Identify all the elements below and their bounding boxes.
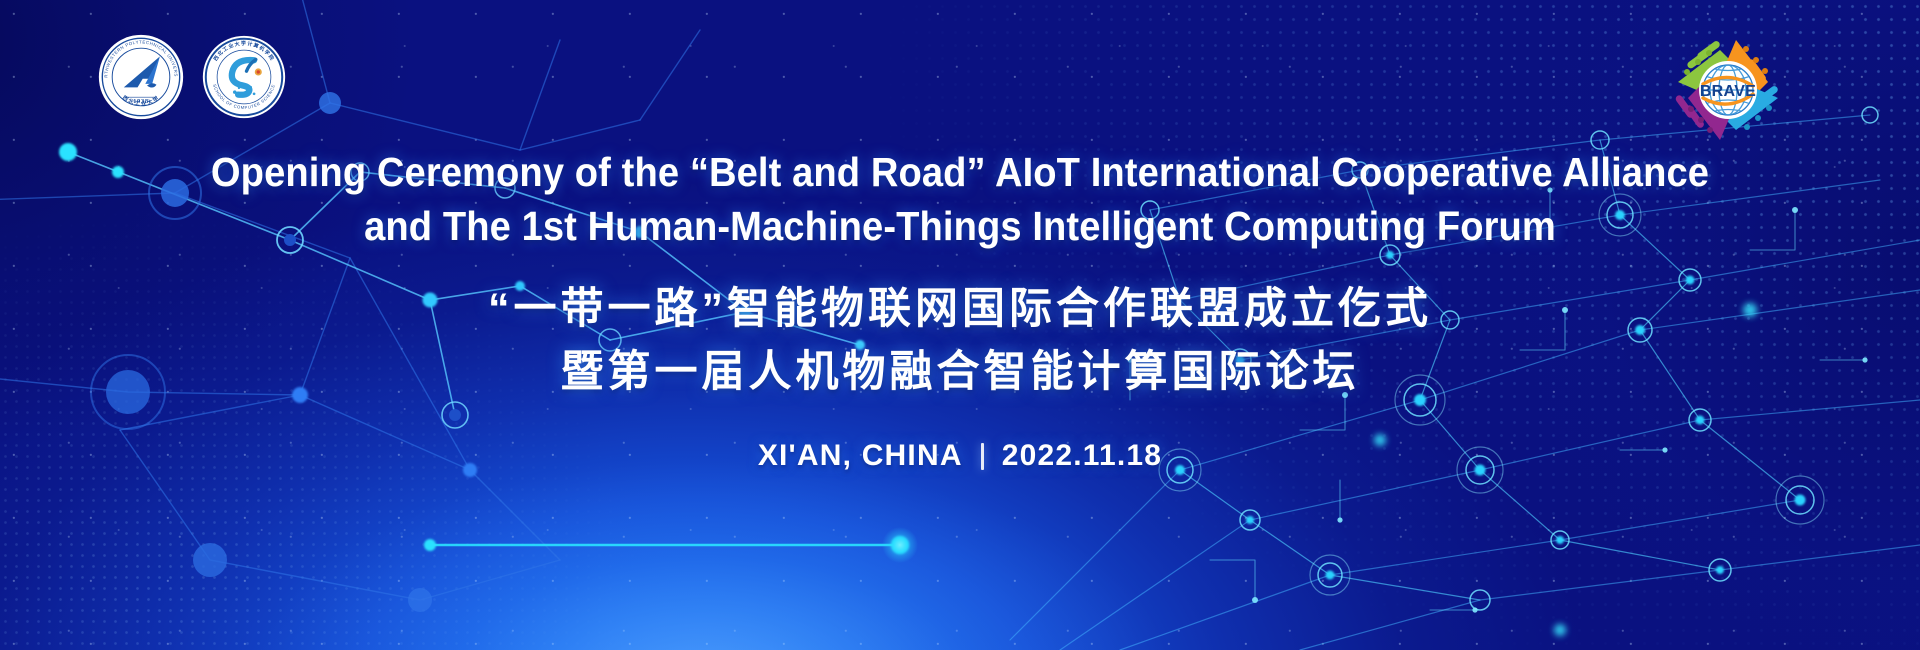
chinese-title-line-2: 暨第一届人机物融合智能计算国际论坛 [0,347,1920,398]
english-title-line-1: Opening Ceremony of the “Belt and Road” … [67,150,1853,196]
school-seal-logo: 西北工业大学计算机学院 SCHOOL OF COMPUTER SCIENCE [202,35,286,119]
accent-pointer-line [424,527,918,563]
english-title-line-2: and The 1st Human-Machine-Things Intelli… [67,204,1853,250]
conference-banner: NORTHWESTERN POLYTECHNICAL UNIVERSITY 西北… [0,0,1920,650]
meta-separator [981,443,984,470]
event-location: XI'AN, CHINA [758,439,963,473]
svg-text:1938: 1938 [133,98,149,105]
event-date: 2022.11.18 [1002,439,1163,473]
event-meta: XI'AN, CHINA 2022.11.18 [0,439,1920,473]
brave-wordmark: BRAVE [1700,83,1756,100]
title-block: Opening Ceremony of the “Belt and Road” … [0,150,1920,473]
institution-logos: NORTHWESTERN POLYTECHNICAL UNIVERSITY 西北… [98,34,286,120]
brave-logo-graphic: BRAVE [1662,24,1794,152]
university-seal-logo: NORTHWESTERN POLYTECHNICAL UNIVERSITY 西北… [98,34,184,120]
brave-logo: BRAVE [1662,24,1794,152]
chinese-title-line-1: “一带一路”智能物联网国际合作联盟成立仡式 [0,284,1920,335]
